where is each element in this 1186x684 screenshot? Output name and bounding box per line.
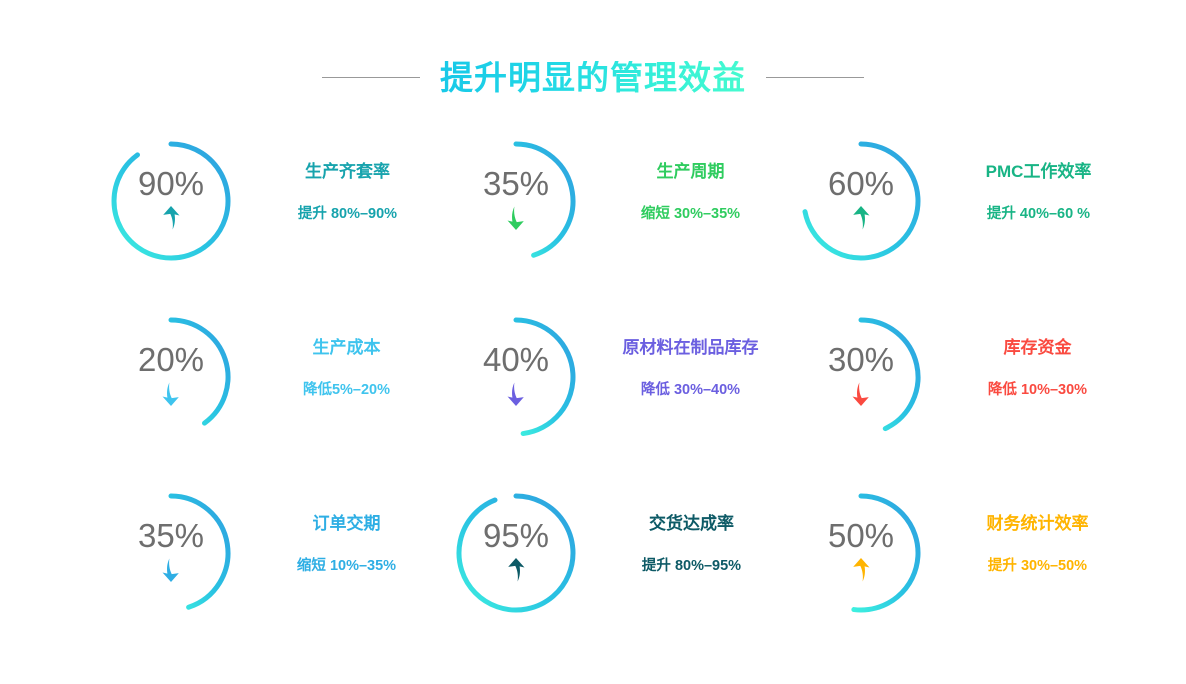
metric-grid: 90% 生产齐套率 提升 80%–90%: [96, 126, 1106, 656]
progress-ring: 30%: [786, 302, 936, 452]
progress-ring-arc: [854, 496, 918, 610]
progress-ring-arc: [171, 320, 228, 423]
metric-text: 订单交期 缩短 10%–35%: [246, 478, 441, 576]
progress-ring: 35%: [96, 478, 246, 628]
progress-ring-svg: [786, 478, 936, 628]
metric-subtitle: 缩短 10%–35%: [297, 558, 396, 575]
progress-ring-svg: [96, 302, 246, 452]
progress-ring-arc: [171, 496, 228, 607]
metric-subtitle: 提升 40%–60 %: [987, 206, 1090, 223]
page-header: 提升明显的管理效益: [0, 52, 1186, 102]
progress-ring-arc: [459, 496, 573, 610]
header-rule-left: [322, 77, 420, 78]
progress-ring: 90%: [96, 126, 246, 276]
metric-card: 35% 生产周期 缩短 30%–35%: [441, 126, 786, 302]
metric-card: 95% 交货达成率 提升 80%–95%: [441, 478, 786, 654]
metric-subtitle: 提升 80%–95%: [642, 558, 741, 575]
metric-title: 交货达成率: [649, 514, 734, 534]
progress-ring-svg: [441, 302, 591, 452]
metric-title: 财务统计效率: [987, 514, 1089, 534]
progress-ring-arc: [861, 320, 918, 429]
progress-ring: 40%: [441, 302, 591, 452]
metric-card: 50% 财务统计效率 提升 30%–50%: [786, 478, 1131, 654]
metric-card: 20% 生产成本 降低5%–20%: [96, 302, 441, 478]
metric-title: PMC工作效率: [986, 162, 1092, 182]
progress-ring-svg: [96, 126, 246, 276]
progress-ring-svg: [786, 302, 936, 452]
metric-subtitle: 降低 30%–40%: [641, 382, 740, 399]
progress-ring-arc: [114, 144, 228, 258]
metric-card: 60% PMC工作效率 提升 40%–60 %: [786, 126, 1131, 302]
metric-title: 订单交期: [313, 514, 381, 534]
metric-subtitle: 提升 80%–90%: [298, 206, 397, 223]
metric-subtitle: 降低5%–20%: [303, 382, 390, 399]
metric-card: 35% 订单交期 缩短 10%–35%: [96, 478, 441, 654]
metric-text: 交货达成率 提升 80%–95%: [591, 478, 786, 576]
header-rule-right: [766, 77, 864, 78]
metric-text: 财务统计效率 提升 30%–50%: [936, 478, 1131, 576]
progress-ring-svg: [441, 478, 591, 628]
metric-card: 90% 生产齐套率 提升 80%–90%: [96, 126, 441, 302]
metric-text: 原材料在制品库存 降低 30%–40%: [591, 302, 786, 400]
progress-ring-svg: [786, 126, 936, 276]
progress-ring: 95%: [441, 478, 591, 628]
progress-ring-arc: [516, 320, 573, 434]
metric-card: 30% 库存资金 降低 10%–30%: [786, 302, 1131, 478]
metric-text: 库存资金 降低 10%–30%: [936, 302, 1131, 400]
metric-subtitle: 降低 10%–30%: [988, 382, 1087, 399]
metric-title: 生产成本: [313, 338, 381, 358]
progress-ring-arc: [805, 144, 918, 258]
page-title: 提升明显的管理效益: [440, 61, 746, 94]
progress-ring-arc: [516, 144, 573, 255]
progress-ring-svg: [96, 478, 246, 628]
progress-ring: 20%: [96, 302, 246, 452]
metric-title: 生产齐套率: [305, 162, 390, 182]
metric-title: 库存资金: [1004, 338, 1072, 358]
metric-title: 原材料在制品库存: [623, 338, 759, 358]
progress-ring: 60%: [786, 126, 936, 276]
progress-ring: 50%: [786, 478, 936, 628]
metric-subtitle: 提升 30%–50%: [988, 558, 1087, 575]
metric-card: 40% 原材料在制品库存 降低 30%–40%: [441, 302, 786, 478]
metric-text: PMC工作效率 提升 40%–60 %: [936, 126, 1131, 224]
metric-subtitle: 缩短 30%–35%: [641, 206, 740, 223]
progress-ring-svg: [441, 126, 591, 276]
metric-text: 生产周期 缩短 30%–35%: [591, 126, 786, 224]
metric-text: 生产成本 降低5%–20%: [246, 302, 441, 400]
metric-title: 生产周期: [657, 162, 725, 182]
metric-text: 生产齐套率 提升 80%–90%: [246, 126, 441, 224]
progress-ring: 35%: [441, 126, 591, 276]
